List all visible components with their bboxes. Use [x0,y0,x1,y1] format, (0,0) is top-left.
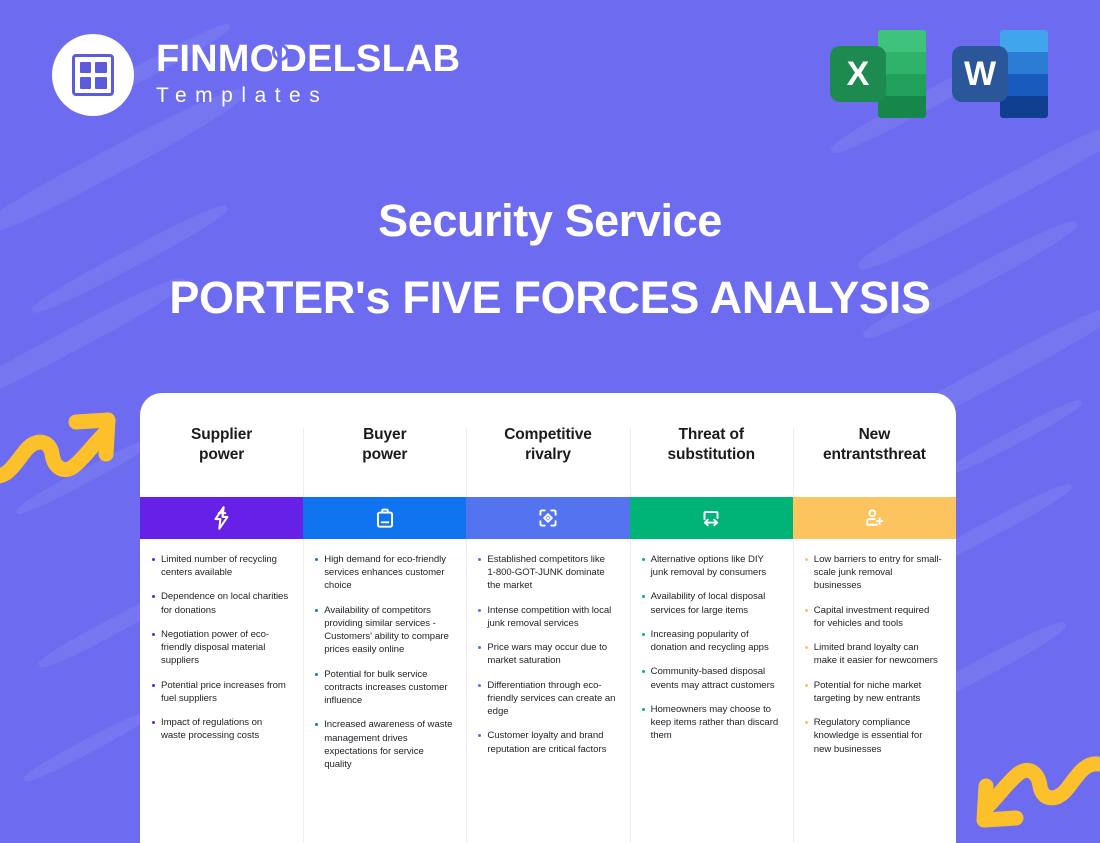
bullet-text: Alternative options like DIY junk remova… [651,553,779,579]
list-item: Alternative options like DIY junk remova… [640,553,779,579]
bullet-dot [478,734,481,737]
list-item: Potential price increases from fuel supp… [150,679,289,705]
bullet-text: Differentiation through eco-friendly ser… [487,679,615,719]
excel-badge: X [830,46,886,102]
column-icon-band [466,497,629,539]
column-bullets-threat-of-substitution: Alternative options like DIY junk remova… [630,539,793,764]
header-line-1: Competitive [504,426,592,443]
bullet-text: Increasing popularity of donation and re… [651,628,779,654]
bullet-text: Customer loyalty and brand reputation ar… [487,729,615,755]
column-icon-band [140,497,303,539]
list-item: Intense competition with local junk remo… [476,604,615,630]
bullet-dot [805,646,808,649]
page-subtitle: PORTER's FIVE FORCES ANALYSIS [0,273,1100,323]
squiggle-arrow-down-left-icon [972,742,1100,837]
brand-name-label: FINMODELSLAB [156,38,460,80]
list-item: High demand for eco-friendly services en… [313,553,452,593]
bullet-dot [805,684,808,687]
word-badge: W [952,46,1008,102]
brand-logo[interactable]: FINMODELSLAB Templates [52,34,460,116]
bullet-dot [152,721,155,724]
header-line-2: substitution [667,446,754,463]
bullet-text: Dependence on local charities for donati… [161,590,289,616]
column-header-competitive-rivalry: Competitive rivalry [466,393,629,497]
bullet-dot [478,684,481,687]
column-header-label: Threat of substitution [667,425,754,465]
bullet-dot [315,609,318,612]
bullet-dot [805,558,808,561]
force-column-competitive-rivalry: Competitive rivalry [466,393,629,843]
brand-text: FINMODELSLAB Templates [156,40,460,109]
header-line-2: power [362,446,407,463]
column-header-label: New entrantsthreat [823,425,926,465]
bullet-dot [642,633,645,636]
list-item: Impact of regulations on waste processin… [150,716,289,742]
bullet-dot [805,721,808,724]
column-icon-band [793,497,956,539]
list-item: Increased awareness of waste management … [313,718,452,771]
bullet-text: Availability of competitors providing si… [324,604,452,657]
force-column-supplier-power: Supplier power Limited number of recycli… [140,393,303,843]
bullet-dot [642,558,645,561]
list-item: Regulatory compliance knowledge is essen… [803,716,942,756]
list-item: Negotiation power of eco-friendly dispos… [150,628,289,668]
force-column-new-entrants-threat: New entrantsthreat [793,393,956,843]
bullet-dot [478,558,481,561]
page-title-block: Security Service PORTER's FIVE FORCES AN… [0,196,1100,322]
list-item: Differentiation through eco-friendly ser… [476,679,615,719]
list-item: Low barriers to entry for small-scale ju… [803,553,942,593]
list-item: Price wars may occur due to market satur… [476,641,615,667]
bullet-dot [152,595,155,598]
list-item: Potential for bulk service contracts inc… [313,668,452,708]
format-icons: X W [830,28,1048,120]
bullet-text: Potential for niche market targeting by … [814,679,942,705]
bullet-text: Low barriers to entry for small-scale ju… [814,553,942,593]
five-forces-grid: Supplier power Limited number of recycli… [140,393,956,843]
list-item: Availability of local disposal services … [640,590,779,616]
column-bullets-supplier-power: Limited number of recycling centers avai… [140,539,303,764]
squiggle-arrow-up-right-icon [0,404,120,495]
column-header-label: Buyer power [362,425,407,465]
grid-icon [72,54,114,96]
list-item: Availability of competitors providing si… [313,604,452,657]
list-item: Dependence on local charities for donati… [150,590,289,616]
list-item: Potential for niche market targeting by … [803,679,942,705]
header-line-2: entrantsthreat [823,446,926,463]
page-title: Security Service [0,196,1100,246]
bullet-text: Impact of regulations on waste processin… [161,716,289,742]
bullet-dot [152,684,155,687]
brush-stroke [21,708,151,786]
five-forces-card: Supplier power Limited number of recycli… [140,393,956,843]
header-line-1: Threat of [678,426,743,443]
bullet-text: Negotiation power of eco-friendly dispos… [161,628,289,668]
brand-name: FINMODELSLAB [156,40,460,80]
column-bullets-new-entrants-threat: Low barriers to entry for small-scale ju… [793,539,956,777]
bullet-dot [642,670,645,673]
header-line-2: power [199,446,244,463]
column-bullets-buyer-power: High demand for eco-friendly services en… [303,539,466,792]
bullet-text: Increased awareness of waste management … [324,718,452,771]
lightning-bolt-icon [209,505,235,531]
bullet-text: Regulatory compliance knowledge is essen… [814,716,942,756]
bullet-text: High demand for eco-friendly services en… [324,553,452,593]
list-item: Limited number of recycling centers avai… [150,553,289,579]
brush-stroke [945,396,1084,479]
bullet-text: Potential price increases from fuel supp… [161,679,289,705]
bullet-dot [642,708,645,711]
user-plus-icon [861,505,887,531]
bullet-dot [152,633,155,636]
bullet-text: Limited brand loyalty can make it easier… [814,641,942,667]
header-line-1: Supplier [191,426,252,443]
column-header-buyer-power: Buyer power [303,393,466,497]
header-line-1: Buyer [363,426,406,443]
column-header-supplier-power: Supplier power [140,393,303,497]
brush-stroke [13,436,152,519]
swap-arrows-icon [698,505,724,531]
focus-target-icon [535,505,561,531]
list-item: Customer loyalty and brand reputation ar… [476,729,615,755]
list-item: Homeowners may choose to keep items rath… [640,703,779,743]
poster-canvas: FINMODELSLAB Templates X W Security Serv… [0,0,1100,843]
bullet-dot [315,723,318,726]
briefcase-minus-icon [372,505,398,531]
bullet-text: Community-based disposal events may attr… [651,665,779,691]
list-item: Limited brand loyalty can make it easier… [803,641,942,667]
list-item: Community-based disposal events may attr… [640,665,779,691]
force-column-buyer-power: Buyer power High demand for eco-friendly… [303,393,466,843]
bullet-text: Price wars may occur due to market satur… [487,641,615,667]
column-icon-band [630,497,793,539]
list-item: Capital investment required for vehicles… [803,604,942,630]
column-header-threat-of-substitution: Threat of substitution [630,393,793,497]
bullet-text: Limited number of recycling centers avai… [161,553,289,579]
word-icon[interactable]: W [952,28,1048,120]
bullet-dot [478,646,481,649]
brand-tagline: Templates [156,82,460,109]
bullet-dot [642,595,645,598]
bullet-text: Homeowners may choose to keep items rath… [651,703,779,743]
column-icon-band [303,497,466,539]
force-column-threat-of-substitution: Threat of substitution Alterna [630,393,793,843]
bullet-text: Established competitors like 1-800-GOT-J… [487,553,615,593]
bullet-dot [478,609,481,612]
bullet-text: Potential for bulk service contracts inc… [324,668,452,708]
bullet-text: Intense competition with local junk remo… [487,604,615,630]
column-header-label: Supplier power [191,425,252,465]
header-line-2: rivalry [525,446,571,463]
bullet-text: Availability of local disposal services … [651,590,779,616]
list-item: Established competitors like 1-800-GOT-J… [476,553,615,593]
bullet-dot [315,558,318,561]
excel-icon[interactable]: X [830,28,926,120]
logo-circle [52,34,134,116]
column-header-new-entrants-threat: New entrantsthreat [793,393,956,497]
column-bullets-competitive-rivalry: Established competitors like 1-800-GOT-J… [466,539,629,777]
header-line-1: New [859,426,891,443]
bullet-dot [315,673,318,676]
list-item: Increasing popularity of donation and re… [640,628,779,654]
bullet-dot [805,609,808,612]
bullet-text: Capital investment required for vehicles… [814,604,942,630]
bullet-dot [152,558,155,561]
column-header-label: Competitive rivalry [504,425,592,465]
